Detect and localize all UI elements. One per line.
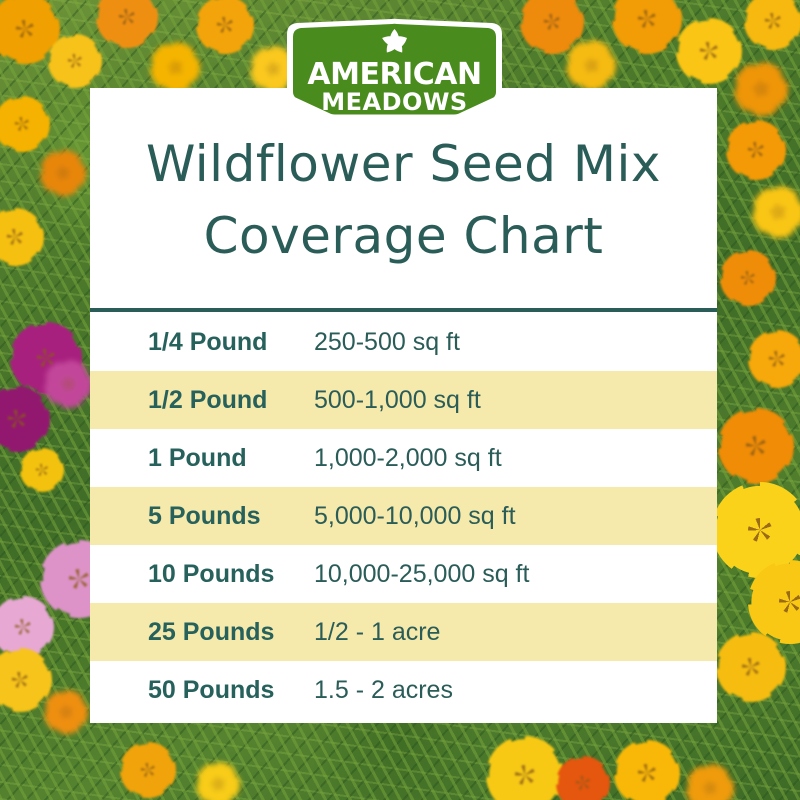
cell-amount: 1 Pound [90,444,314,473]
title-line-2: Coverage Chart [90,200,717,272]
cell-amount: 25 Pounds [90,618,314,647]
flower-bloom [566,40,616,90]
logo-text-american: AMERICAN [307,57,481,92]
cell-coverage: 1/2 - 1 acre [314,618,717,647]
flower-bloom [748,330,800,388]
cell-amount: 1/2 Pound [90,386,314,415]
flower-bloom [44,360,92,408]
flower-bloom [20,448,64,492]
title-divider [90,308,717,312]
table-row: 10 Pounds10,000-25,000 sq ft [90,545,717,603]
cell-coverage: 1,000-2,000 sq ft [314,444,717,473]
cell-coverage: 250-500 sq ft [314,328,717,357]
flower-bloom [752,186,800,238]
logo-text-meadows: MEADOWS [321,88,467,116]
flower-bloom [726,120,786,180]
american-meadows-logo[interactable]: AMERICAN MEADOWS [273,18,516,122]
coverage-chart-poster: AMERICAN MEADOWS Wildflower Seed Mix Cov… [0,0,800,800]
flower-bloom [40,150,86,196]
flower-bloom [718,408,794,484]
flower-bloom [716,632,786,702]
title-line-1: Wildflower Seed Mix [90,128,717,200]
cell-amount: 1/4 Pound [90,328,314,357]
table-row: 1/2 Pound500-1,000 sq ft [90,371,717,429]
flower-bloom [676,18,742,84]
flower-bloom [614,740,680,800]
table-row: 5 Pounds5,000-10,000 sq ft [90,487,717,545]
table-row: 50 Pounds1.5 - 2 acres [90,661,717,719]
table-row: 1 Pound1,000-2,000 sq ft [90,429,717,487]
flower-bloom [44,690,88,734]
coverage-table: 1/4 Pound250-500 sq ft1/2 Pound500-1,000… [90,313,717,719]
cell-amount: 5 Pounds [90,502,314,531]
cell-amount: 10 Pounds [90,560,314,589]
flower-bloom [720,250,776,306]
flower-bloom [196,762,240,800]
page-title: Wildflower Seed Mix Coverage Chart [90,128,717,272]
table-row: 1/4 Pound250-500 sq ft [90,313,717,371]
cell-coverage: 10,000-25,000 sq ft [314,560,717,589]
flower-bloom [150,42,200,92]
table-row: 25 Pounds1/2 - 1 acre [90,603,717,661]
cell-amount: 50 Pounds [90,676,314,705]
flower-bloom [48,34,102,88]
cell-coverage: 500-1,000 sq ft [314,386,717,415]
flower-bloom [120,742,176,798]
flower-bloom [734,62,788,116]
cell-coverage: 5,000-10,000 sq ft [314,502,717,531]
cell-coverage: 1.5 - 2 acres [314,676,717,705]
